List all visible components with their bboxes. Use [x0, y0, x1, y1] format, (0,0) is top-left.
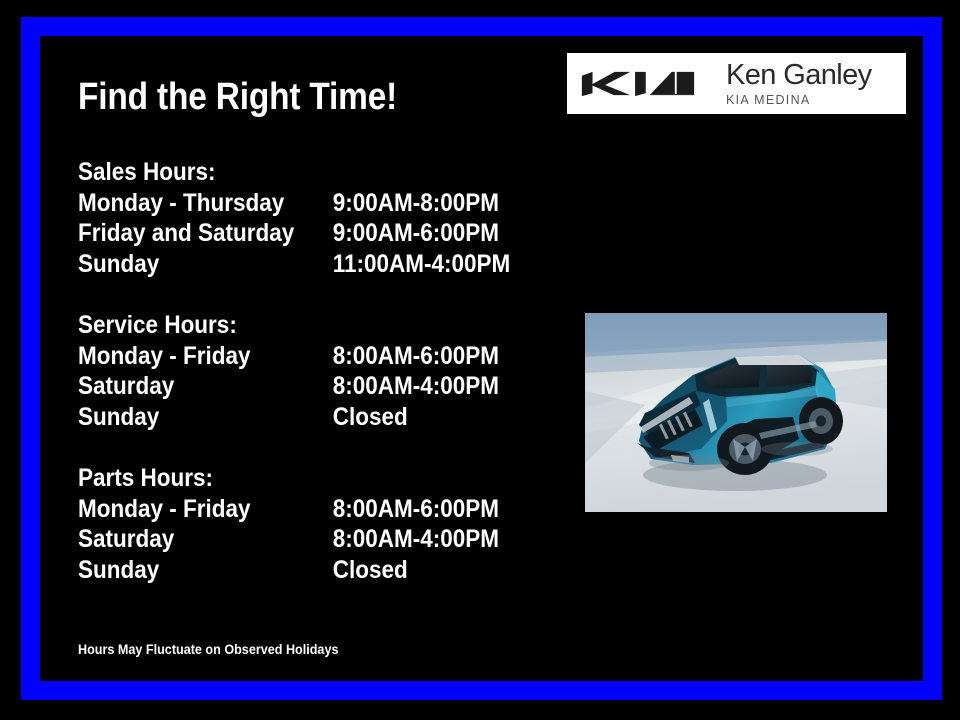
hours-row-day: Monday - Thursday	[78, 188, 284, 219]
hours-row-time: 9:00AM-8:00PM	[333, 188, 499, 219]
dealer-subtitle: KIA MEDINA	[726, 94, 872, 107]
hours-row: Sunday 11:00AM-4:00PM	[78, 249, 501, 280]
hours-row-time: 8:00AM-4:00PM	[333, 524, 499, 555]
hours-group-parts: Parts Hours: Monday - Friday 8:00AM-6:00…	[78, 463, 501, 585]
hours-list: Sales Hours: Monday - Thursday 9:00AM-8:…	[78, 157, 501, 585]
kia-logo-icon	[579, 69, 697, 99]
hours-row-time: 9:00AM-6:00PM	[333, 218, 499, 249]
hours-row: Monday - Friday 8:00AM-6:00PM	[78, 341, 501, 372]
hours-row-time: Closed	[333, 555, 408, 586]
hours-group-service: Service Hours: Monday - Friday 8:00AM-6:…	[78, 310, 501, 432]
hours-group-heading: Service Hours:	[78, 310, 501, 341]
holiday-disclaimer: Hours May Fluctuate on Observed Holidays	[78, 640, 338, 658]
hours-row: Monday - Friday 8:00AM-6:00PM	[78, 494, 501, 525]
page-title: Find the Right Time!	[78, 76, 397, 118]
hours-row: Monday - Thursday 9:00AM-8:00PM	[78, 188, 501, 219]
hours-row-day: Sunday	[78, 249, 159, 280]
hours-row-time: 11:00AM-4:00PM	[333, 249, 511, 280]
hours-row: Sunday Closed	[78, 402, 501, 433]
hours-row: Sunday Closed	[78, 555, 501, 586]
dealer-logo-banner: Ken Ganley KIA MEDINA	[567, 53, 906, 114]
hours-row-day: Saturday	[78, 371, 174, 402]
hours-row-day: Sunday	[78, 555, 159, 586]
hours-row-day: Saturday	[78, 524, 174, 555]
hours-row-day: Monday - Friday	[78, 341, 251, 372]
slide-canvas: Find the Right Time! Sales Hours: Monday…	[0, 0, 960, 720]
hours-group-heading: Sales Hours:	[78, 157, 501, 188]
hours-row: Saturday 8:00AM-4:00PM	[78, 524, 501, 555]
hours-row: Friday and Saturday 9:00AM-6:00PM	[78, 218, 501, 249]
hours-row-time: Closed	[333, 402, 408, 433]
hours-row: Saturday 8:00AM-4:00PM	[78, 371, 501, 402]
hours-row-day: Friday and Saturday	[78, 218, 294, 249]
hours-row-time: 8:00AM-6:00PM	[333, 341, 499, 372]
hours-group-heading: Parts Hours:	[78, 463, 501, 494]
hours-row-day: Sunday	[78, 402, 159, 433]
hours-group-sales: Sales Hours: Monday - Thursday 9:00AM-8:…	[78, 157, 501, 279]
dealer-name: Ken Ganley	[726, 61, 872, 90]
hours-row-time: 8:00AM-4:00PM	[333, 371, 499, 402]
dealer-name-block: Ken Ganley KIA MEDINA	[726, 61, 872, 107]
hours-row-day: Monday - Friday	[78, 494, 251, 525]
kia-ev9-suv-photo	[585, 313, 887, 512]
hours-row-time: 8:00AM-6:00PM	[333, 494, 499, 525]
